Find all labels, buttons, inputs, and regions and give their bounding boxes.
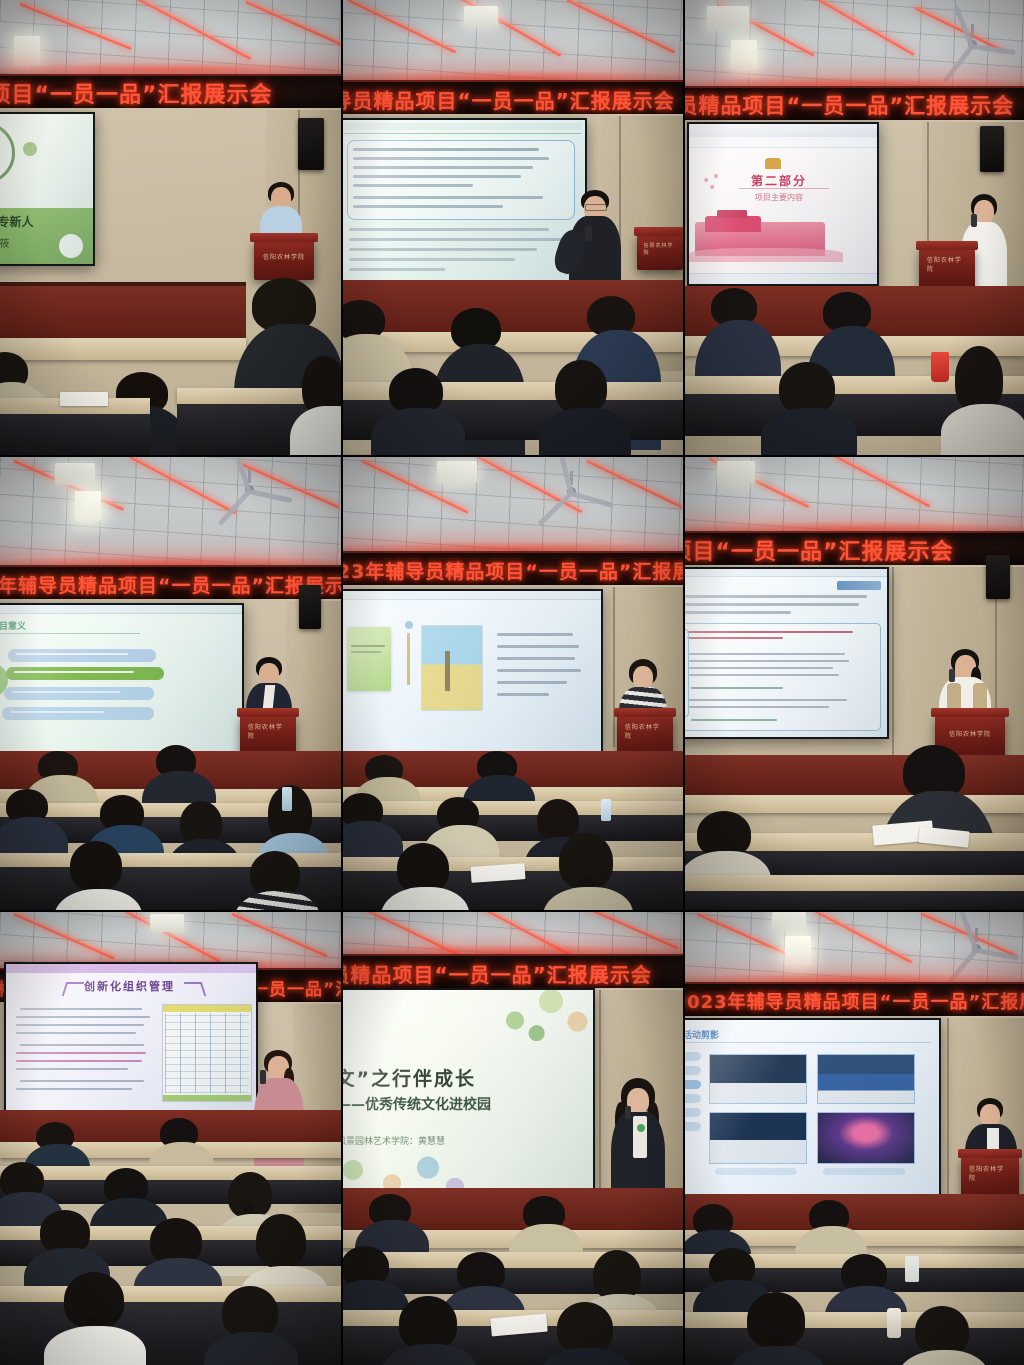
ceiling-fan [211,469,287,509]
slide-subheading: 院 陶梦筱 [0,235,9,250]
ceiling-fan [938,928,1014,968]
collage-panel-middle-left: 23年辅导员精品项目“一员一品”汇报展示会 项目意义 [0,455,341,910]
slide-bar [2,707,154,720]
collage-panel-bottom-left: 农林学院2023年辅导员精品项目“一员一品”汇报展示会 创新化组织管理 [0,910,341,1365]
collage-panel-bottom-right: 院2023年辅导员精品项目“一员一品”汇报展示会 活动剪影 [683,910,1024,1365]
stage-desk [0,282,246,340]
slide-photo [709,1054,807,1104]
podium-plaque: 信阳农林学院 [945,728,995,738]
slide-heading: “文”之行伴成长 [341,1064,476,1091]
led-banner-text: 2023年辅导员精品项目“一员一品”汇报展示会 [341,557,683,584]
collage-panel-middle-center: 2023年辅导员精品项目“一员一品”汇报展示会 [341,455,683,910]
led-banner-text: 导员精品项目“一员一品”汇报展示会 [341,959,652,988]
led-banner-text: 辅导员精品项目“一员一品”汇报展示会 [341,85,675,114]
slide-photo [817,1054,915,1104]
slide-heading: 活动剪影 [683,1028,719,1041]
collage-panel-middle-right: 品项目“一员一品”汇报展示会 [683,455,1024,910]
audience-desk [341,801,683,815]
collage-panel-top-center: 辅导员精品项目“一员一品”汇报展示会 [341,0,683,455]
projection-screen: ，品味红专新人 院 陶梦筱 [0,112,95,266]
slide-heading: 项目意义 [0,619,26,632]
podium-plaque: 信阳农林学院 [625,727,665,736]
podium-plaque: 信阳农林学院 [643,245,676,253]
projection-screen [341,118,587,286]
led-banner-text: 品项目“一员一品”汇报展示会 [683,534,953,566]
wall-speaker [299,585,321,629]
projection-screen: “文”之行伴成长 ——优秀传统文化进校园 风景园林艺术学院：黄慧慧 [341,988,595,1192]
water-bottle [601,799,611,821]
wall-speaker [980,126,1004,172]
stage-desk [683,755,1024,797]
slide-heading: 创新化组织管理 [84,978,175,994]
projection-screen [341,589,603,755]
drink-cup [931,352,949,382]
projection-screen: 活动剪影 [683,1018,941,1200]
projection-screen [683,567,889,739]
slide-subheading: 项目主要内容 [755,192,803,203]
led-banner: 2023年辅导员精品项目“一员一品”汇报展示会 [341,551,683,589]
podium: 信阳农林学院 [254,240,314,280]
led-banner-text: 院2023年辅导员精品项目“一员一品”汇报展示会 [683,988,1024,1014]
led-banner: 导员精品项目“一员一品”汇报展示会 [683,86,1024,124]
audience-desk [683,1312,1024,1328]
led-banner-text: 导员精品项目“一员一品”汇报展示会 [683,90,1014,120]
photo-collage: 品项目“一员一品”汇报展示会 ，品味红专新人 院 陶梦筱 [0,0,1024,1365]
wall-speaker [298,118,324,170]
podium: 信阳农林学院 [961,1156,1019,1198]
slide-photo [817,1112,915,1164]
collage-panel-top-left: 品项目“一员一品”汇报展示会 ，品味红专新人 院 陶梦筱 [0,0,341,455]
projection-screen: 创新化组织管理 [4,962,258,1114]
podium: 信阳农林学院 [919,248,975,288]
water-bottle [887,1308,901,1338]
slide-heading: ，品味红专新人 [0,213,33,230]
led-banner: 23年辅导员精品项目“一员一品”汇报展示会 [0,565,341,603]
drink-cup [905,1256,919,1282]
ceiling-fan [934,24,1010,64]
projection-screen: 项目意义 [0,603,244,755]
led-banner-text: 品项目“一员一品”汇报展示会 [0,77,272,109]
wall-speaker [986,555,1010,599]
led-banner: 品项目“一员一品”汇报展示会 [683,531,1024,569]
podium-plaque: 信阳农林学院 [248,727,288,736]
podium: 信阳农林学院 [617,715,673,755]
podium-plaque: 信阳农林学院 [927,260,967,269]
slide-table [162,1004,252,1102]
slide-presenter: 风景园林艺术学院：黄慧慧 [341,1134,445,1147]
led-banner: 导员精品项目“一员一品”汇报展示会 [341,954,683,992]
slide-heading: 第二部分 [751,172,807,189]
podium-plaque: 信阳农林学院 [262,252,305,261]
led-banner: 院2023年辅导员精品项目“一员一品”汇报展示会 [683,982,1024,1020]
audience-desk [0,1166,341,1180]
audience-desk [683,875,1024,891]
water-bottle [282,787,292,811]
slide-bar-highlighted [6,667,164,680]
stage-desk [683,1194,1024,1232]
led-banner: 辅导员精品项目“一员一品”汇报展示会 [341,80,683,118]
ceiling-fan [533,471,609,511]
podium-plaque: 信阳农林学院 [969,1169,1011,1178]
slide-bar [8,649,156,662]
projection-screen: 第二部分 项目主要内容 [687,122,879,286]
slide-subheading: ——优秀传统文化进校园 [341,1094,491,1114]
collage-panel-top-right: 导员精品项目“一员一品”汇报展示会 第二部分 项目主要内容 [683,0,1024,455]
led-banner: 品项目“一员一品”汇报展示会 [0,74,341,112]
collage-panel-bottom-center: 导员精品项目“一员一品”汇报展示会 “文”之行伴成长 ——优秀传统文化进校园 风… [341,910,683,1365]
led-banner-text: 23年辅导员精品项目“一员一品”汇报展示会 [0,571,341,598]
slide-bar [4,687,154,700]
slide-photo [709,1112,807,1164]
podium: 信阳农林学院 [240,715,296,755]
audience-desk [0,1286,341,1302]
podium: 信阳农林学院 [637,234,683,270]
